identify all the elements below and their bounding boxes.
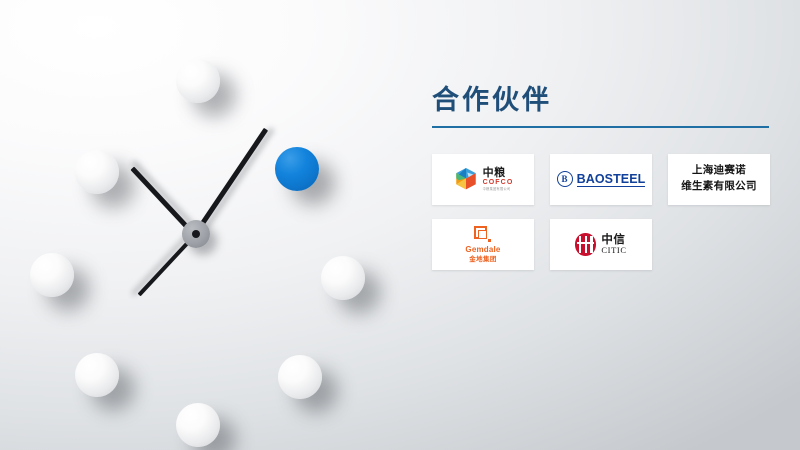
baosteel-logo: B BAOSTEEL <box>557 171 646 187</box>
citic-name-en: CITIC <box>601 246 626 255</box>
baosteel-name-en: BAOSTEEL <box>577 172 646 187</box>
clock-minute-hand <box>193 128 268 236</box>
partner-card-cofco[interactable]: 中粮 COFCO 中粮集团有限公司 <box>432 154 534 205</box>
partner-card-baosteel[interactable]: B BAOSTEEL <box>550 154 652 205</box>
baosteel-circle-icon: B <box>557 171 573 187</box>
clock-hub-cap <box>192 230 200 238</box>
partners-panel: 合作伙伴 中粮 <box>432 86 772 270</box>
desano-name-line2: 维生素有限公司 <box>681 179 757 195</box>
gemdale-name-en: Gemdale <box>465 246 500 254</box>
citic-name-cn: 中信 <box>601 233 626 245</box>
slide: 合作伙伴 中粮 <box>0 0 800 450</box>
cofco-tagline: 中粮集团有限公司 <box>483 188 514 191</box>
partner-card-gemdale[interactable]: Gemdale 金地集团 <box>432 219 534 270</box>
clock-marker-5 <box>278 355 322 399</box>
citic-emblem-icon <box>575 233 596 256</box>
citic-wordmark: 中信 CITIC <box>601 233 626 255</box>
cofco-name-cn: 中粮 <box>483 167 514 178</box>
clock-marker-12 <box>176 59 220 103</box>
gemdale-square-icon <box>474 226 491 243</box>
clock-marker-6 <box>176 403 220 447</box>
title-underline-rule <box>432 126 769 128</box>
cofco-wordmark: 中粮 COFCO 中粮集团有限公司 <box>483 167 514 191</box>
partner-card-desano[interactable]: 上海迪赛诺 维生素有限公司 <box>668 154 770 205</box>
wall-clock-graphic <box>10 45 400 435</box>
clock-marker-7 <box>75 353 119 397</box>
desano-name-line1: 上海迪赛诺 <box>681 163 757 179</box>
partner-card-citic[interactable]: 中信 CITIC <box>550 219 652 270</box>
cofco-name-en: COFCO <box>483 179 514 186</box>
page-title: 合作伙伴 <box>432 86 772 116</box>
gemdale-name-cn: 金地集团 <box>465 256 500 263</box>
clock-marker-3 <box>321 256 365 300</box>
citic-logo: 中信 CITIC <box>575 233 626 256</box>
partner-logo-grid: 中粮 COFCO 中粮集团有限公司 B BAOSTEEL 上海迪赛诺 维生素有限… <box>432 154 772 270</box>
clock-marker-1-accent <box>275 147 319 191</box>
clock-marker-9 <box>30 253 74 297</box>
desano-logo: 上海迪赛诺 维生素有限公司 <box>681 163 757 195</box>
gemdale-logo: Gemdale 金地集团 <box>465 226 500 263</box>
cofco-cube-icon <box>453 166 479 192</box>
cofco-logo: 中粮 COFCO 中粮集团有限公司 <box>453 166 514 192</box>
clock-marker-11 <box>75 150 119 194</box>
